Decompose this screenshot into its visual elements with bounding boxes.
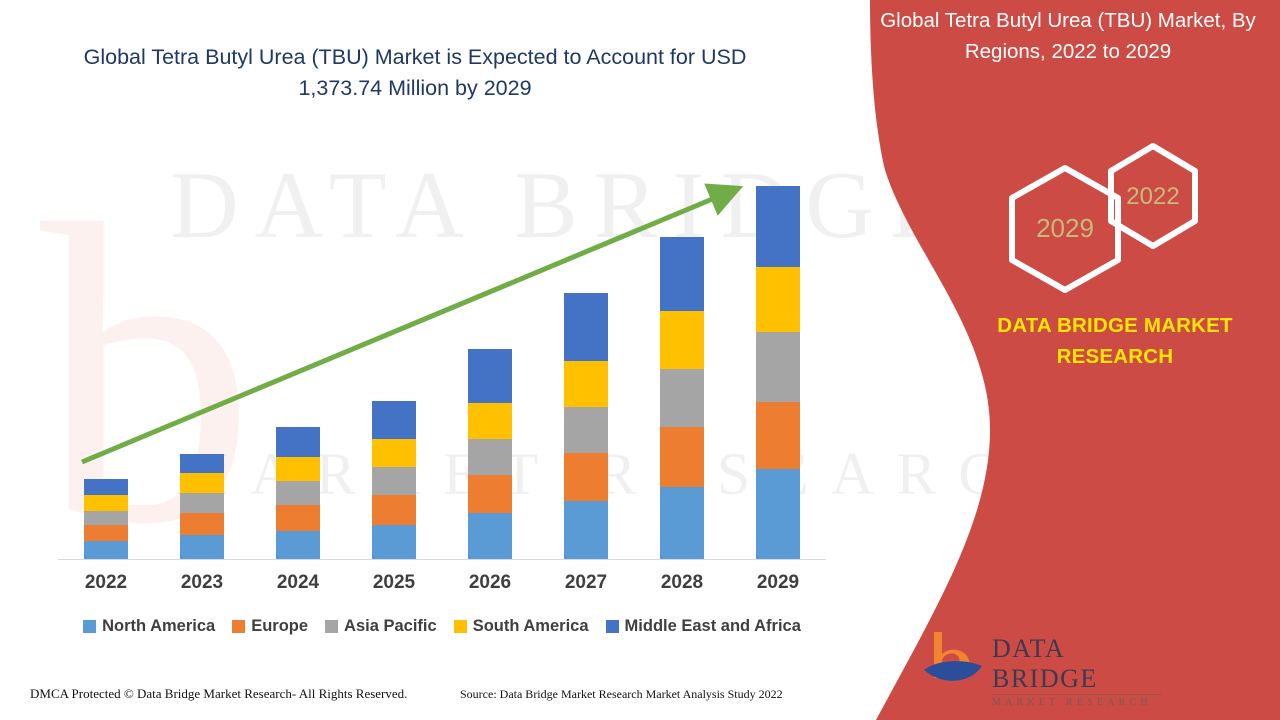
bar-segment [276,531,320,559]
stacked-bar-2027[interactable] [564,293,608,559]
bar-segment [276,427,320,457]
bar-segment [372,495,416,525]
bar-segment [84,525,128,541]
bar-segment [756,332,800,402]
chart-plot-area [58,140,826,559]
stacked-bar-2023[interactable] [180,454,224,559]
bar-segment [564,501,608,559]
bar-segment [180,535,224,559]
legend-item[interactable]: North America [83,617,215,636]
x-axis-line [58,559,826,560]
x-axis-labels: 20222023202420252026202720282029 [58,572,826,594]
legend-item[interactable]: Middle East and Africa [606,617,801,636]
legend-label: South America [473,617,589,636]
footer-dmca-text: DMCA Protected © Data Bridge Market Rese… [30,686,407,702]
bar-segment [564,453,608,501]
bar-segment [660,427,704,487]
bar-slot-2022 [58,140,154,559]
hexagon-2029-label: 2029 [1036,213,1094,243]
bar-slot-2025 [346,140,442,559]
bar-segment [660,237,704,311]
legend-swatch-icon [325,620,338,633]
bar-segment [276,481,320,505]
bar-slot-2024 [250,140,346,559]
chart-legend: North AmericaEuropeAsia PacificSouth Ame… [58,617,826,636]
data-bridge-logo: DATA BRIDGE MARKET RESEARCH [920,628,1160,694]
bar-segment [84,479,128,495]
bar-segment [756,469,800,559]
bar-slot-2027 [538,140,634,559]
bar-segment [84,511,128,525]
main-title: Global Tetra Butyl Urea (TBU) Market is … [60,42,770,104]
panel-title: Global Tetra Butyl Urea (TBU) Market, By… [850,5,1280,67]
hexagon-2022-label: 2022 [1126,183,1179,210]
bar-segment [372,439,416,467]
logo-sub-text: MARKET RESEARCH [992,694,1162,710]
bar-segment [756,267,800,332]
x-axis-label-2022: 2022 [58,572,154,594]
bar-segment [180,513,224,535]
x-axis-label-2027: 2027 [538,572,634,594]
legend-label: North America [102,617,215,636]
bar-segment [756,186,800,267]
legend-swatch-icon [232,620,245,633]
bar-segment [180,454,224,473]
bar-segment [372,401,416,439]
bar-segment [276,457,320,481]
bar-segment [756,402,800,469]
bar-segment [564,407,608,453]
legend-label: Asia Pacific [344,617,437,636]
stacked-bar-2022[interactable] [84,479,128,559]
bar-segment [468,513,512,559]
bar-segment [564,361,608,407]
x-axis-label-2023: 2023 [154,572,250,594]
bar-segment [468,475,512,513]
logo-main-text: DATA BRIDGE [992,634,1162,694]
x-axis-label-2029: 2029 [730,572,826,594]
bar-segment [180,473,224,493]
bar-chart [58,140,826,560]
hexagon-badges: 2029 2022 [990,138,1220,308]
legend-item[interactable]: Asia Pacific [325,617,437,636]
bar-segment [276,505,320,531]
bar-slot-2029 [730,140,826,559]
bar-segment [660,487,704,559]
bar-slot-2026 [442,140,538,559]
logo-mark-icon [920,628,990,690]
footer-source-text: Source: Data Bridge Market Research Mark… [460,687,783,702]
bar-segment [660,369,704,427]
legend-swatch-icon [83,620,96,633]
bar-segment [84,541,128,559]
legend-label: Europe [251,617,308,636]
bar-slot-2023 [154,140,250,559]
brand-name: DATA BRIDGE MARKET RESEARCH [960,310,1270,372]
bar-segment [564,293,608,361]
stacked-bar-2028[interactable] [660,237,704,559]
x-axis-label-2025: 2025 [346,572,442,594]
stacked-bar-2024[interactable] [276,427,320,559]
x-axis-label-2028: 2028 [634,572,730,594]
bar-segment [468,439,512,475]
bar-segment [372,525,416,559]
bar-segment [468,349,512,403]
stacked-bar-2026[interactable] [468,349,512,559]
stacked-bar-2025[interactable] [372,401,416,559]
legend-swatch-icon [606,620,619,633]
legend-item[interactable]: South America [454,617,589,636]
bar-segment [84,495,128,511]
bar-segment [660,311,704,369]
bar-slot-2028 [634,140,730,559]
stacked-bar-2029[interactable] [756,186,800,559]
x-axis-label-2024: 2024 [250,572,346,594]
bar-segment [180,493,224,513]
legend-label: Middle East and Africa [625,617,801,636]
legend-item[interactable]: Europe [232,617,308,636]
bar-segment [372,467,416,495]
infographic-canvas: b DATA BRIDGE MARKET RESEARCH Global Tet… [0,0,1280,720]
legend-swatch-icon [454,620,467,633]
bar-segment [468,403,512,439]
x-axis-label-2026: 2026 [442,572,538,594]
